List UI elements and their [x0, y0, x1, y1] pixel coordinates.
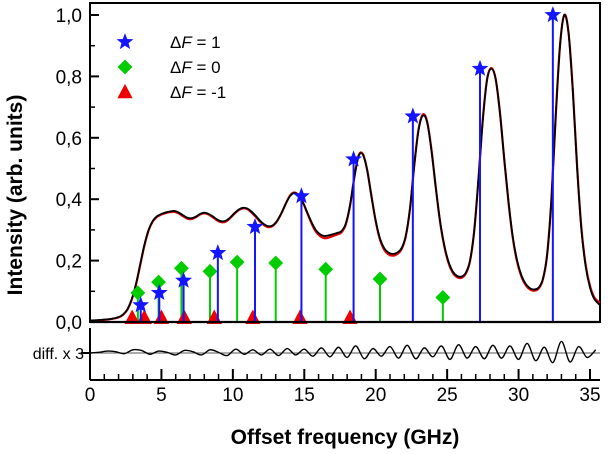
stick-marker: [230, 255, 244, 269]
y-tick-label: 0,2: [56, 252, 82, 273]
stick-series-delta-f-plus1: [133, 7, 560, 322]
y-tick-label: 0,0: [56, 313, 82, 334]
legend-label: ΔF = -1: [170, 83, 226, 102]
x-tick-label: 10: [222, 385, 243, 406]
spectrum-figure: 0,00,20,40,60,81,0 05101520253035 ΔF = 1…: [0, 0, 611, 454]
y-tick-label: 1,0: [56, 6, 82, 27]
y-tick-label: 0,6: [56, 129, 82, 150]
transition-sticks: [90, 7, 600, 324]
y-tick-label: 0,8: [56, 67, 82, 88]
stick-marker: [373, 272, 387, 286]
x-axis-title: Offset frequency (GHz): [231, 426, 460, 449]
stick-marker: [203, 264, 217, 278]
y-axis-ticks: 0,00,20,40,60,81,0: [56, 6, 99, 334]
legend-label: ΔF = 0: [170, 58, 221, 77]
x-tick-label: 0: [85, 385, 96, 406]
diff-panel-label: diff. x 3: [33, 346, 84, 363]
stick-marker: [269, 256, 283, 270]
legend-label: ΔF = 1: [170, 33, 221, 52]
experimental-spectrum-trace: [90, 15, 600, 321]
figure-root: 0,00,20,40,60,81,0 05101520253035 ΔF = 1…: [0, 0, 611, 454]
x-tick-label: 20: [365, 385, 386, 406]
legend-marker-triangle: [118, 85, 132, 99]
main-axes-box: [90, 3, 600, 322]
difference-trace: [90, 341, 596, 362]
stick-series-delta-f-zero: [131, 255, 450, 322]
x-axis-ticks: 05101520253035: [81, 328, 601, 406]
legend-marker-diamond: [118, 60, 132, 74]
x-tick-label: 35: [579, 385, 600, 406]
legend-marker-star: [117, 34, 132, 48]
stick-marker: [436, 290, 450, 304]
stick-marker: [174, 261, 188, 275]
x-tick-label: 5: [156, 385, 167, 406]
y-tick-label: 0,4: [56, 190, 83, 211]
y-axis-title: Intensity (arb. units): [4, 95, 27, 296]
fitted-spectrum-trace: [90, 15, 600, 321]
difference-panel: [90, 341, 600, 362]
x-tick-label: 25: [437, 385, 458, 406]
spectrum-traces: [90, 15, 600, 321]
legend: ΔF = 1ΔF = 0ΔF = -1: [117, 33, 226, 102]
x-tick-label: 30: [508, 385, 529, 406]
x-tick-label: 15: [294, 385, 315, 406]
stick-marker: [319, 262, 333, 276]
main-plot-frame: [90, 3, 600, 322]
